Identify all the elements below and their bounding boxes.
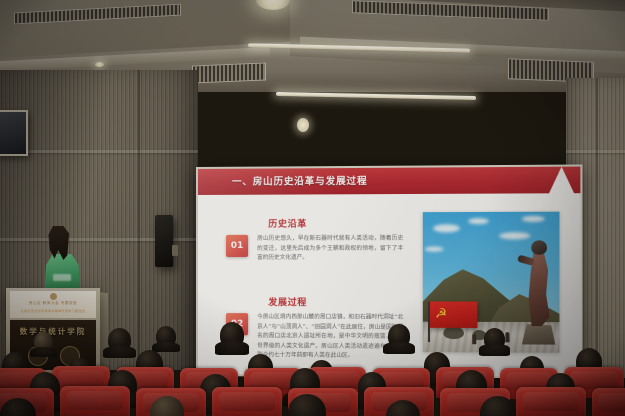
audience-head — [484, 328, 505, 350]
cloud-4 — [522, 216, 545, 222]
audience-head — [156, 326, 176, 347]
hammer-sickle-icon: ☭ — [435, 307, 450, 322]
cloud-5 — [425, 247, 444, 252]
audience-area — [0, 326, 625, 416]
presenter — [42, 228, 82, 294]
auditorium-seat[interactable] — [212, 387, 282, 416]
wall-speaker — [155, 215, 173, 267]
lecture-hall-scene: 一、房山历史沿革与发展过程 历史沿革 01 房山历史悠久，早在新石器时代就有人类… — [0, 0, 625, 416]
down-light-1 — [95, 62, 104, 67]
cloud-2 — [468, 218, 489, 224]
statue-head — [531, 240, 547, 254]
cloud-1 — [433, 224, 460, 232]
audience-head — [108, 328, 131, 352]
block-1-text: 房山历史悠久，早在新石器时代就有人类活动，随着历史的变迁，这里先后成为多个王朝和… — [257, 235, 403, 264]
podium-banner-line1: 房山区·教育大会 专题讲座 — [10, 301, 96, 306]
title-bar-notch-icon — [549, 167, 574, 194]
block-2-heading: 发展过程 — [268, 295, 403, 308]
wall-seam-1 — [138, 70, 140, 370]
party-flag: ☭ — [430, 301, 477, 328]
podium-banner-line2: 弘扬红色文化传承革命精神专题学习报告会 — [10, 308, 96, 313]
slide-block-1: 历史沿革 01 房山历史悠久，早在新石器时代就有人类活动，随着历史的变迁，这里先… — [226, 216, 403, 264]
auditorium-seat[interactable] — [516, 387, 586, 416]
wall-monitor — [0, 110, 28, 156]
wall-trim-1 — [0, 150, 198, 153]
block-1-heading: 历史沿革 — [268, 216, 403, 230]
statue-arm — [517, 255, 535, 266]
institution-crest-icon — [50, 293, 57, 300]
audience-head — [220, 322, 244, 348]
audience-head — [388, 324, 410, 348]
audience-head — [34, 332, 53, 352]
auditorium-seat[interactable] — [592, 388, 625, 416]
slide-title: 一、房山历史沿革与发展过程 — [232, 173, 367, 188]
strip-light-2 — [276, 92, 476, 100]
block-1-number-badge: 01 — [226, 235, 248, 257]
block-1-row: 01 房山历史悠久，早在新石器时代就有人类活动，随着历史的变迁，这里先后成为多个… — [226, 235, 403, 264]
presenter-shirt-graphic — [53, 274, 71, 281]
podium-banner: 房山区·教育大会 专题讲座 弘扬红色文化传承革命精神专题学习报告会 — [10, 291, 96, 318]
down-light-2 — [297, 118, 309, 132]
auditorium-seat[interactable] — [60, 386, 130, 416]
ceiling-vent-3 — [192, 62, 266, 83]
